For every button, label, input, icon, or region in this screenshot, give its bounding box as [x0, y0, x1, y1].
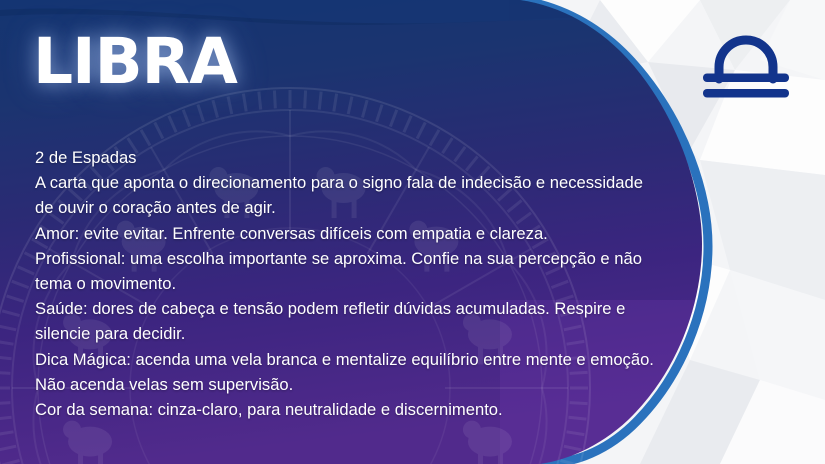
- horoscope-text: 2 de Espadas A carta que aponta o direci…: [35, 145, 735, 422]
- text-line: Amor: evite evitar. Enfrente conversas d…: [35, 221, 735, 246]
- text-line: de ouvir o coração antes de agir.: [35, 195, 735, 220]
- text-line: Saúde: dores de cabeça e tensão podem re…: [35, 296, 735, 321]
- horoscope-poster: LIBRA 2 de Espadas A carta que aponta o …: [0, 0, 825, 464]
- libra-scales-icon: [697, 27, 795, 99]
- text-line: 2 de Espadas: [35, 145, 735, 170]
- text-line: A carta que aponta o direcionamento para…: [35, 170, 735, 195]
- text-line: Não acenda velas sem supervisão.: [35, 372, 735, 397]
- text-line: silencie para decidir.: [35, 321, 735, 346]
- text-line: Cor da semana: cinza-claro, para neutral…: [35, 397, 735, 422]
- text-line: tema o movimento.: [35, 271, 735, 296]
- text-line: Profissional: uma escolha importante se …: [35, 246, 735, 271]
- page-title: LIBRA: [33, 30, 237, 93]
- text-line: Dica Mágica: acenda uma vela branca e me…: [35, 347, 735, 372]
